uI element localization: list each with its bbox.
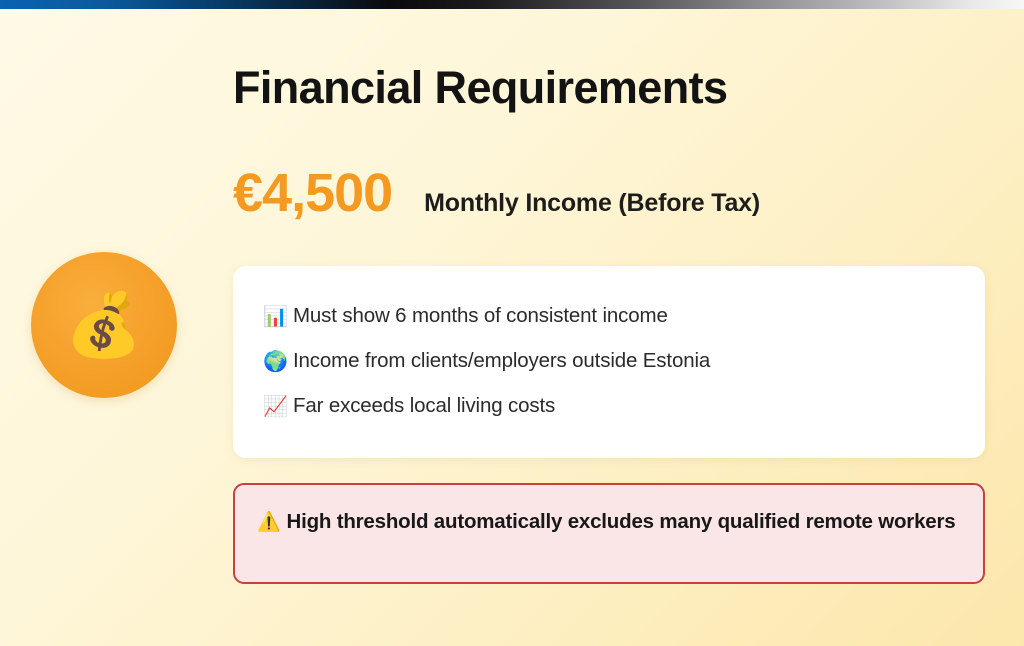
warning-callout: ⚠️High threshold automatically excludes … [233,483,985,584]
amount-value: €4,500 [233,166,392,220]
slide-root: Financial Requirements €4,500 Monthly In… [0,0,1024,646]
list-item: 📊 Must show 6 months of consistent incom… [263,293,955,338]
warning-text-block: ⚠️High threshold automatically excludes … [257,507,959,537]
warning-message: High threshold automatically excludes ma… [286,510,955,533]
list-item-label: Income from clients/employers outside Es… [293,349,710,373]
globe-icon: 🌍 [263,351,293,371]
warning-triangle-icon: ⚠️ [257,511,280,533]
page-title: Financial Requirements [233,62,727,114]
bar-chart-icon: 📊 [263,306,293,326]
money-bag-icon: 💰 [65,294,142,356]
money-bag-badge: 💰 [31,252,177,398]
list-item-label: Must show 6 months of consistent income [293,304,668,328]
list-item: 🌍 Income from clients/employers outside … [263,338,955,383]
list-item-label: Far exceeds local living costs [293,394,555,418]
chart-increasing-icon: 📈 [263,396,293,416]
amount-label: Monthly Income (Before Tax) [424,191,760,216]
requirements-card: 📊 Must show 6 months of consistent incom… [233,266,985,458]
accent-bar [0,0,1024,9]
amount-row: €4,500 Monthly Income (Before Tax) [233,166,760,220]
list-item: 📈 Far exceeds local living costs [263,383,955,428]
